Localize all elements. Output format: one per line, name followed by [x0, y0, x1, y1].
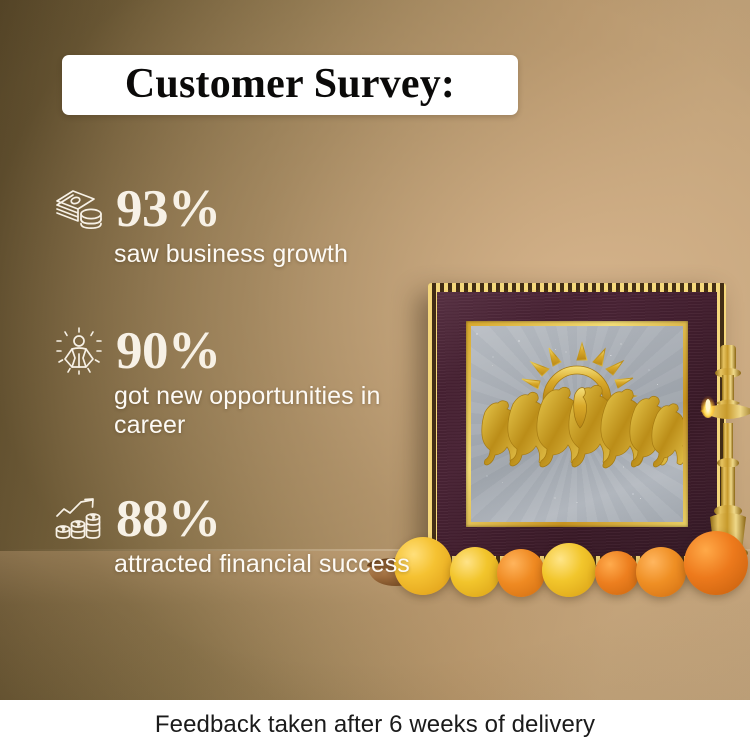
stat-percent: 90% [116, 325, 221, 378]
pompom [636, 547, 686, 597]
stat-percent: 93% [116, 183, 221, 236]
stat-header: 93% [48, 178, 348, 240]
footer-bar: Feedback taken after 6 weeks of delivery [0, 700, 750, 750]
stat-item: 88% attracted financial success [48, 488, 410, 579]
pompom [450, 547, 500, 597]
pompom [684, 531, 748, 595]
stat-header: 88% [48, 488, 410, 550]
stat-description: saw business growth [114, 240, 348, 269]
stat-item: 90% got new opportunities in career [48, 320, 430, 440]
pompom [542, 543, 596, 597]
stat-header: 90% [48, 320, 430, 382]
stat-description: got new opportunities in career [114, 382, 430, 440]
stat-description: attracted financial success [114, 550, 410, 579]
title-box: Customer Survey: [62, 55, 518, 115]
stat-percent: 88% [116, 493, 221, 546]
survey-poster: Customer Survey: [0, 0, 750, 750]
seven-horses-sun-artwork-icon [471, 326, 683, 522]
marigold-pompom-garland [392, 525, 750, 595]
growth-chart-coins-icon [48, 488, 110, 550]
artwork-glitter-field [471, 326, 683, 522]
cash-stack-icon [48, 178, 110, 240]
footer-note: Feedback taken after 6 weeks of delivery [155, 711, 595, 739]
pompom [497, 549, 545, 597]
person-rays-icon [48, 320, 110, 382]
page-title: Customer Survey: [125, 63, 455, 108]
pompom [595, 551, 639, 595]
stat-item: 93% saw business growth [48, 178, 348, 269]
